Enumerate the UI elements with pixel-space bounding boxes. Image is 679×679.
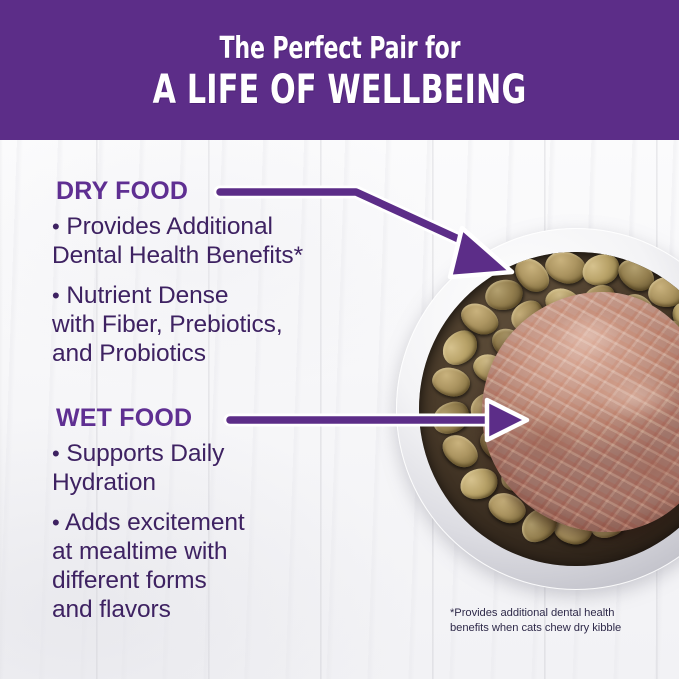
footnote-disclaimer: *Provides additional dental health benef… bbox=[450, 606, 660, 636]
wet-food-bullet-2-line3: different forms bbox=[52, 567, 207, 594]
dry-food-heading: DRY FOOD bbox=[56, 177, 188, 206]
bullet-dot-icon: • bbox=[52, 283, 60, 308]
dry-food-bullet-2-line2: with Fiber, Prebiotics, bbox=[52, 311, 283, 338]
banner-headline-line1: The Perfect Pair for bbox=[219, 32, 460, 66]
dry-food-bullet-2: • Nutrient Dense with Fiber, Prebiotics,… bbox=[52, 281, 388, 368]
bullet-dot-icon: • bbox=[52, 441, 60, 466]
footnote-line1: *Provides additional dental health bbox=[450, 607, 614, 619]
footnote-line2: benefits when cats chew dry kibble bbox=[450, 622, 621, 634]
dry-food-bullet-1-line1: Provides Additional bbox=[66, 213, 272, 240]
wet-food-bullet-1-line2: Hydration bbox=[52, 469, 156, 496]
dry-food-bullet-2-line3: and Probiotics bbox=[52, 340, 206, 367]
wet-food-heading: WET FOOD bbox=[56, 404, 192, 433]
bullet-dot-icon: • bbox=[52, 214, 60, 239]
bullet-dot-icon: • bbox=[52, 510, 60, 535]
header-banner: The Perfect Pair for A LIFE OF WELLBEING bbox=[0, 0, 679, 140]
banner-headline-line2: A LIFE OF WELLBEING bbox=[153, 68, 527, 112]
wet-food-bullet-2-line4: and flavors bbox=[52, 596, 171, 623]
wet-food-bullet-2: • Adds excitement at mealtime with diffe… bbox=[52, 508, 382, 624]
dry-food-bullet-1-line2: Dental Health Benefits* bbox=[52, 242, 303, 269]
wet-food-bullet-2-line2: at mealtime with bbox=[52, 538, 227, 565]
wet-food-bullet-1: • Supports Daily Hydration bbox=[52, 439, 382, 497]
dry-food-bullet-2-line1: Nutrient Dense bbox=[66, 282, 228, 309]
dry-food-bullet-1: • Provides Additional Dental Health Bene… bbox=[52, 212, 382, 270]
wet-food-bullet-2-line1: Adds excitement bbox=[65, 509, 245, 536]
wet-food-pate bbox=[482, 292, 679, 531]
cat-food-bowl-photo bbox=[396, 228, 679, 590]
wet-food-bullet-1-line1: Supports Daily bbox=[66, 440, 224, 467]
promo-infographic: The Perfect Pair for A LIFE OF WELLBEING… bbox=[0, 0, 679, 679]
